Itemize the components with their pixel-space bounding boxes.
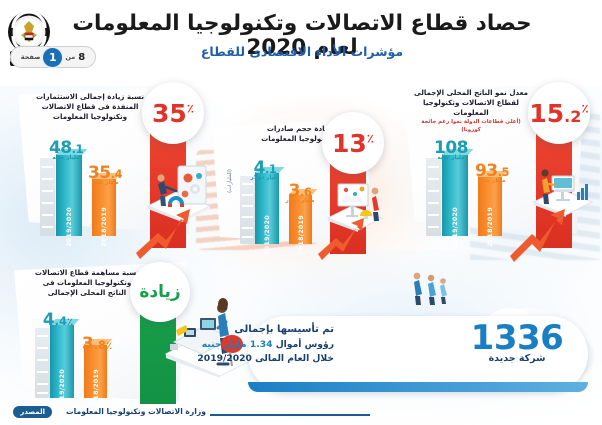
bar-value-investments-2019: 48.1 مليار جنيه	[42, 140, 90, 161]
chart-ladder	[35, 328, 50, 398]
header: الهيئة العامة حصاد قطاع الاتصالات وتكنول…	[0, 0, 602, 80]
card-investments-badge-sign: ٪	[187, 101, 194, 115]
arrow-investments	[132, 205, 192, 263]
bar-2019-2020: 2019/2020	[442, 154, 468, 236]
companies-count: 1336	[471, 318, 564, 358]
bar-2019-2020: 2019/2020	[50, 324, 74, 398]
bar-year-label: 2018/2019	[100, 207, 108, 247]
page-total: 8	[78, 52, 85, 63]
bar-value-contribution-2018: 3.8٪	[74, 336, 120, 352]
page-subtitle: مؤشرات الأداء الاقتصادى للقطاع	[132, 44, 472, 59]
bar-value-exports-2018: 3.6 مليار دولار	[278, 183, 322, 204]
card-gdp-growth-heading: معدل نمو الناتج المحلى الإجمالى لقطاع ال…	[412, 88, 530, 135]
bar-year-label: 2018/2019	[486, 207, 494, 247]
card-gdp-growth-badge-value: 15	[529, 99, 564, 128]
card-investments-badge: 35٪	[142, 82, 204, 144]
source-text: وزارة الاتصالات وتكنولوجيا المعلومات	[66, 407, 206, 416]
card-investments-heading: نسبة زيادة إجمالى الاستثمارات المنفذة فى…	[34, 92, 146, 122]
bar-2019-2020: 2019/2020	[56, 154, 82, 236]
bar-2018-2019: 2018/2019	[478, 176, 502, 236]
page-current: 1	[43, 48, 62, 67]
bar-value-investments-2018: 35.4 مليار جنيه	[82, 165, 128, 186]
source-badge: المصدر	[13, 406, 52, 418]
band-bottom-edge	[248, 382, 588, 392]
bar-value-exports-2019: 4.1 مليار دولار	[242, 160, 288, 181]
footer-divider	[210, 414, 370, 416]
footer: وزارة الاتصالات وتكنولوجيا المعلومات الم…	[0, 403, 602, 425]
bar-year-label: 2019/2020	[451, 207, 459, 247]
chart-ladder	[426, 158, 441, 236]
bar-value-gdp-2018: 93.5 مليار جنيه	[468, 163, 516, 184]
bar-2019-2020: 2019/2020	[255, 172, 279, 244]
chart-ladder	[40, 158, 55, 236]
page-indicator: 8 من 1 صفحة	[10, 46, 96, 68]
card-exports-badge-value: 13	[332, 129, 367, 158]
companies-capital-value: 1.34	[250, 339, 273, 350]
companies-statement: تم تأسيسها بإجمالى رؤوس أموال 1.34 مليار…	[164, 322, 334, 366]
bar-2018-2019: 2018/2019	[92, 178, 116, 236]
companies-line1: تم تأسيسها بإجمالى	[164, 322, 334, 338]
card-exports-axis-note: (المليارات)	[227, 169, 233, 193]
card-investments-badge-value: 35	[152, 99, 187, 128]
arrow-gdp-growth	[506, 206, 568, 264]
infographic-page: الهيئة العامة حصاد قطاع الاتصالات وتكنول…	[0, 0, 602, 425]
chart-ladder	[240, 176, 255, 244]
page-of-label: من	[65, 53, 75, 61]
companies-line3: خلال العام المالى 2019/2020	[164, 352, 334, 366]
companies-line2: رؤوس أموال 1.34 مليار جنيه	[164, 338, 334, 352]
card-gdp-contribution-chart: 2019/2020 2018/2019	[28, 320, 140, 398]
card-gdp-growth-badge: 15.2٪	[528, 82, 590, 144]
card-gdp-contribution-heading: نسبة مساهمة قطاع الاتصالات وتكنولوجيا ال…	[34, 268, 140, 298]
companies-count-block: 1336 شركة جديدة	[452, 322, 582, 364]
bar-value-gdp-2019: 108 مليار جنيه	[426, 140, 476, 161]
arrow-exports	[316, 216, 366, 262]
page-label: صفحة	[21, 53, 41, 61]
bar-year-label: 2019/2020	[65, 207, 73, 247]
card-gdp-growth-note: (أعلى قطاعات الدولة نموا رغم جائحة كورون…	[412, 119, 530, 134]
card-exports-badge: 13٪	[322, 112, 384, 174]
bar-year-label: 2018/2019	[297, 215, 305, 255]
bar-value-contribution-2019: 4.4٪	[34, 312, 82, 328]
bar-year-label: 2019/2020	[263, 215, 271, 255]
